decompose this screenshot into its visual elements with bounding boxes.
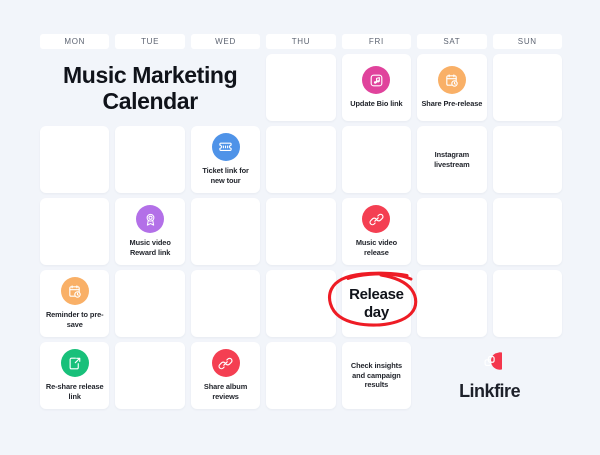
calendar-canvas: MON TUE WED THU FRI SAT SUN Music Market…	[0, 0, 600, 455]
calendar-cell-r3-fri[interactable]: Music video release	[342, 198, 411, 265]
calendar-cell-label: Ticket link for new tour	[195, 166, 256, 186]
link-icon	[362, 205, 390, 233]
calendar-clock-icon	[438, 66, 466, 94]
ticket-icon	[212, 133, 240, 161]
calendar-cell-r2-sun[interactable]	[493, 126, 562, 193]
linkfire-droplet-icon	[478, 350, 502, 374]
calendar-cell-r3-sat[interactable]	[417, 198, 486, 265]
calendar-cell-label: Music video release	[346, 238, 407, 258]
calendar-cell-r3-mon[interactable]	[40, 198, 109, 265]
calendar-cell-r1-sat[interactable]: Share Pre-release	[417, 54, 486, 121]
calendar-cell-label: Music video Reward link	[119, 238, 180, 258]
calendar-cell-r4-sat[interactable]	[417, 270, 486, 337]
award-icon	[136, 205, 164, 233]
calendar-cell-r2-mon[interactable]	[40, 126, 109, 193]
calendar-cell-r5-fri[interactable]: Check insights and campaign results	[342, 342, 411, 409]
calendar-cell-r1-thu[interactable]	[266, 54, 335, 121]
calendar-clock-icon	[61, 277, 89, 305]
day-header-sun: SUN	[493, 34, 562, 49]
calendar-cell-r3-tue[interactable]: Music video Reward link	[115, 198, 184, 265]
link-icon	[212, 349, 240, 377]
calendar-cell-r1-sun[interactable]	[493, 54, 562, 121]
brand-logo: Linkfire	[417, 342, 562, 409]
day-header-fri: FRI	[342, 34, 411, 49]
calendar-cell-r5-thu[interactable]	[266, 342, 335, 409]
brand-name: Linkfire	[459, 381, 520, 402]
calendar-cell-label: Share album reviews	[195, 382, 256, 402]
calendar-cell-r5-sun	[40, 414, 109, 420]
calendar-cell-r5-wed[interactable]: Share album reviews	[191, 342, 260, 409]
page-title-text: Music Marketing Calendar	[44, 62, 256, 114]
calendar-cell-r4-tue[interactable]	[115, 270, 184, 337]
calendar-cell-r5-mon[interactable]: Re-share release link	[40, 342, 109, 409]
day-header-row: MON TUE WED THU FRI SAT SUN	[40, 34, 562, 49]
share-icon	[61, 349, 89, 377]
calendar-cell-r3-sun[interactable]	[493, 198, 562, 265]
day-header-thu: THU	[266, 34, 335, 49]
calendar-cell-r4-sun[interactable]	[493, 270, 562, 337]
calendar-cell-r5-tue[interactable]	[115, 342, 184, 409]
calendar-cell-r4-mon[interactable]: Reminder to pre-save	[40, 270, 109, 337]
day-header-wed: WED	[191, 34, 260, 49]
calendar-cell-r4-fri[interactable]: Release day	[342, 270, 411, 337]
calendar-cell-r1-fri[interactable]: Update Bio link	[342, 54, 411, 121]
page-title: Music Marketing Calendar	[40, 54, 260, 121]
calendar-cell-label: Update Bio link	[350, 99, 402, 109]
calendar-cell-r3-wed[interactable]	[191, 198, 260, 265]
calendar-cell-r2-tue[interactable]	[115, 126, 184, 193]
day-header-tue: TUE	[115, 34, 184, 49]
calendar-cell-r2-fri[interactable]	[342, 126, 411, 193]
calendar-cell-r2-thu[interactable]	[266, 126, 335, 193]
calendar-cell-label: Reminder to pre-save	[44, 310, 105, 330]
music-link-icon	[362, 66, 390, 94]
calendar-cell-label: Share Pre-release	[421, 99, 482, 109]
calendar-cell-r2-sat[interactable]: Instagram livestream	[417, 126, 486, 193]
calendar-cell-label: Check insights and campaign results	[346, 361, 407, 390]
calendar-cell-label: Instagram livestream	[421, 150, 482, 170]
calendar-cell-label: Re-share release link	[44, 382, 105, 402]
calendar-cell-r3-thu[interactable]	[266, 198, 335, 265]
calendar-cell-r2-wed[interactable]: Ticket link for new tour	[191, 126, 260, 193]
calendar-cell-r4-wed[interactable]	[191, 270, 260, 337]
day-header-mon: MON	[40, 34, 109, 49]
release-day-label: Release day	[346, 286, 407, 322]
day-header-sat: SAT	[417, 34, 486, 49]
calendar-grid: Music Marketing Calendar Update Bio link	[40, 54, 562, 420]
calendar-cell-r4-thu[interactable]	[266, 270, 335, 337]
